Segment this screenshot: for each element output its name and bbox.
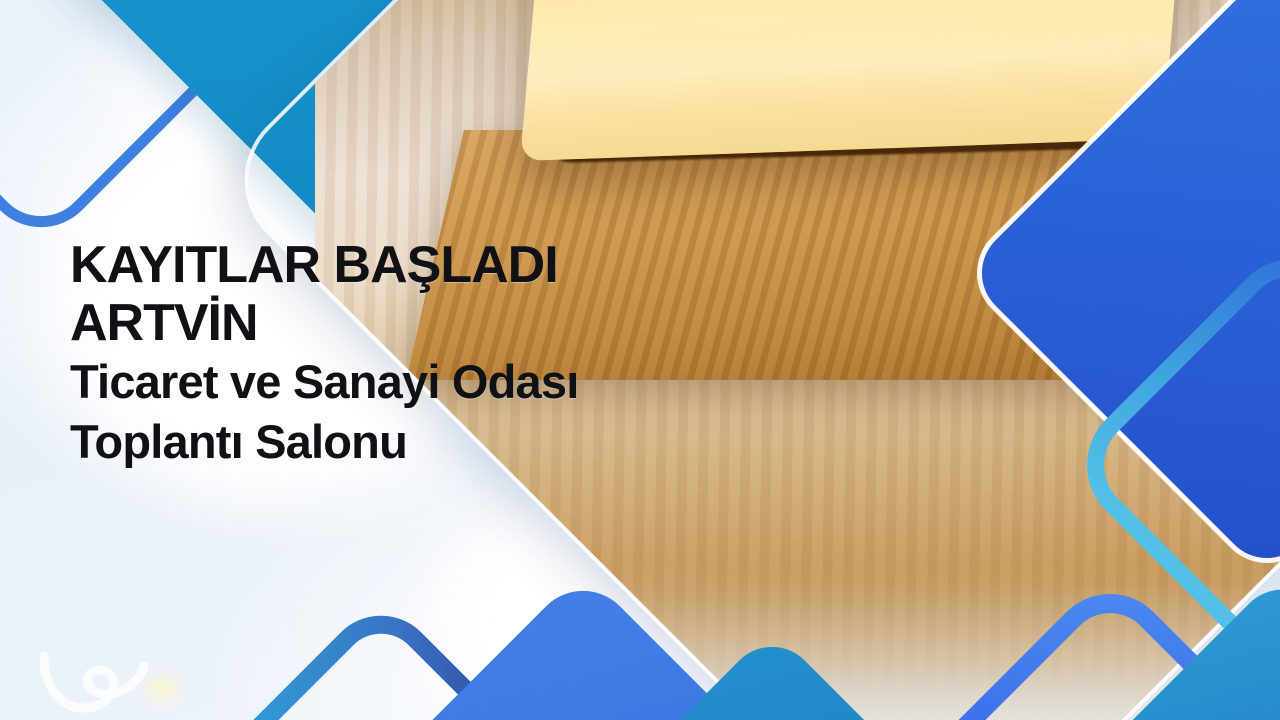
headline-line-1: KAYITLAR BAŞLADI <box>70 236 900 294</box>
headline-line-2: ARTVİN <box>70 294 900 352</box>
bottom-veil <box>0 570 1280 720</box>
headline-block: KAYITLAR BAŞLADI ARTVİN Ticaret ve Sanay… <box>70 236 900 472</box>
headline-line-4: Toplantı Salonu <box>70 412 900 472</box>
headline-line-3: Ticaret ve Sanayi Odası <box>70 352 900 412</box>
banner-stage: KAYITLAR BAŞLADI ARTVİN Ticaret ve Sanay… <box>0 0 1280 720</box>
